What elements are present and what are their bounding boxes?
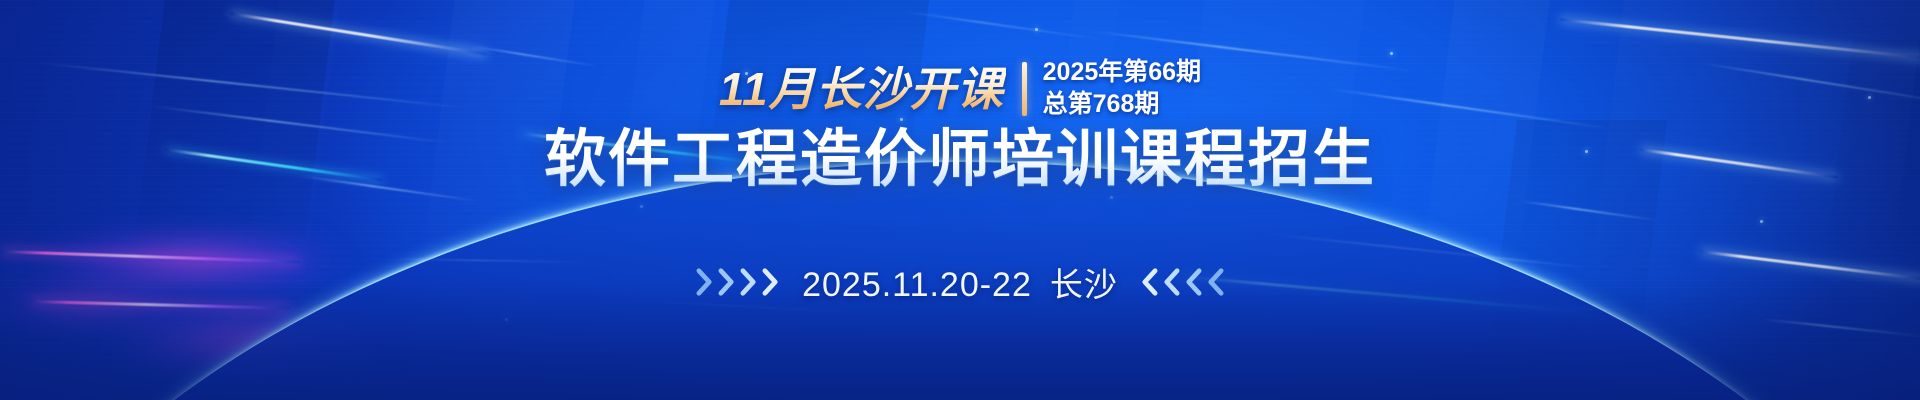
banner-content: 11月长沙开课 2025年第66期 总第768期 软件工程造价师培训课程招生 — [0, 0, 1920, 400]
date-text-group: 2025.11.20-22 长沙 — [802, 258, 1118, 306]
page-title: 软件工程造价师培训课程招生 — [544, 125, 1376, 194]
chevron-right-icon — [761, 267, 780, 297]
chevrons-right-group — [695, 267, 780, 297]
issue-number-group: 2025年第66期 总第768期 — [1043, 58, 1201, 119]
chevron-right-icon — [717, 267, 736, 297]
chevron-right-icon — [739, 267, 758, 297]
course-date: 2025.11.20-22 — [802, 266, 1032, 305]
course-city: 长沙 — [1050, 258, 1118, 306]
course-promo-banner: 11月长沙开课 2025年第66期 总第768期 软件工程造价师培训课程招生 — [0, 0, 1920, 400]
eyebrow-divider-bar — [1022, 62, 1027, 116]
date-location-row: 2025.11.20-22 长沙 — [695, 258, 1225, 306]
eyebrow-row: 11月长沙开课 2025年第66期 总第768期 — [719, 58, 1201, 119]
chevron-left-icon — [1206, 267, 1225, 297]
eyebrow-headline: 11月长沙开课 — [719, 66, 1006, 112]
chevron-right-icon — [695, 267, 714, 297]
chevrons-left-group — [1140, 267, 1225, 297]
chevron-left-icon — [1140, 267, 1159, 297]
issue-line-current: 2025年第66期 — [1043, 58, 1201, 88]
chevron-left-icon — [1162, 267, 1181, 297]
issue-line-total: 总第768期 — [1043, 90, 1201, 120]
chevron-left-icon — [1184, 267, 1203, 297]
